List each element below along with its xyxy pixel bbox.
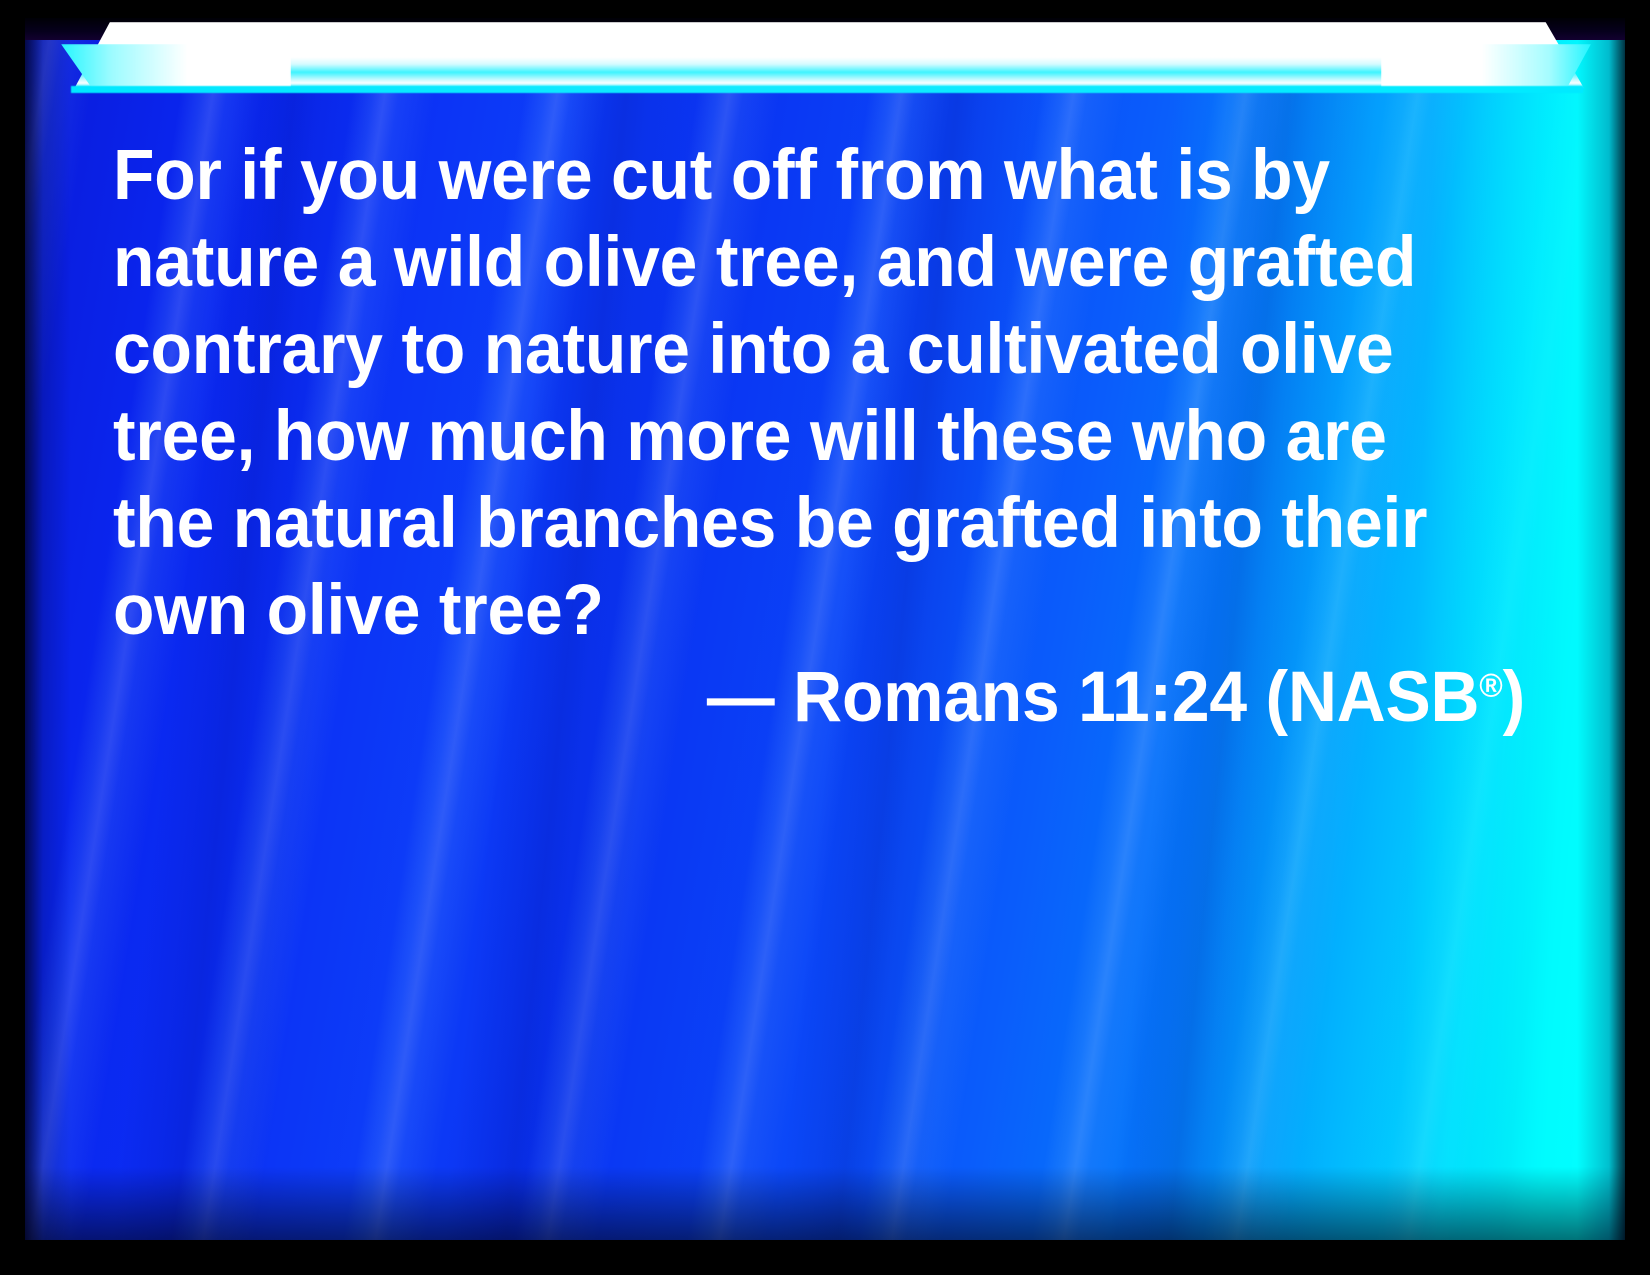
attribution-main: — Romans 11:24 (NASB	[707, 658, 1479, 737]
verse-text: For if you were cut off from what is by …	[113, 132, 1469, 654]
registered-trademark-symbol: ®	[1479, 667, 1502, 704]
verse-attribution: — Romans 11:24 (NASB®)	[177, 654, 1525, 741]
top-highlight-bar-underline	[71, 86, 1583, 93]
scripture-slide: For if you were cut off from what is by …	[0, 0, 1650, 1275]
top-highlight-bar-right-bevel	[1381, 44, 1591, 90]
top-highlight-bar-left-bevel	[61, 44, 291, 90]
slide-panel: For if you were cut off from what is by …	[25, 18, 1625, 1240]
attribution-suffix: )	[1503, 658, 1525, 737]
top-highlight-bar	[69, 22, 1585, 90]
